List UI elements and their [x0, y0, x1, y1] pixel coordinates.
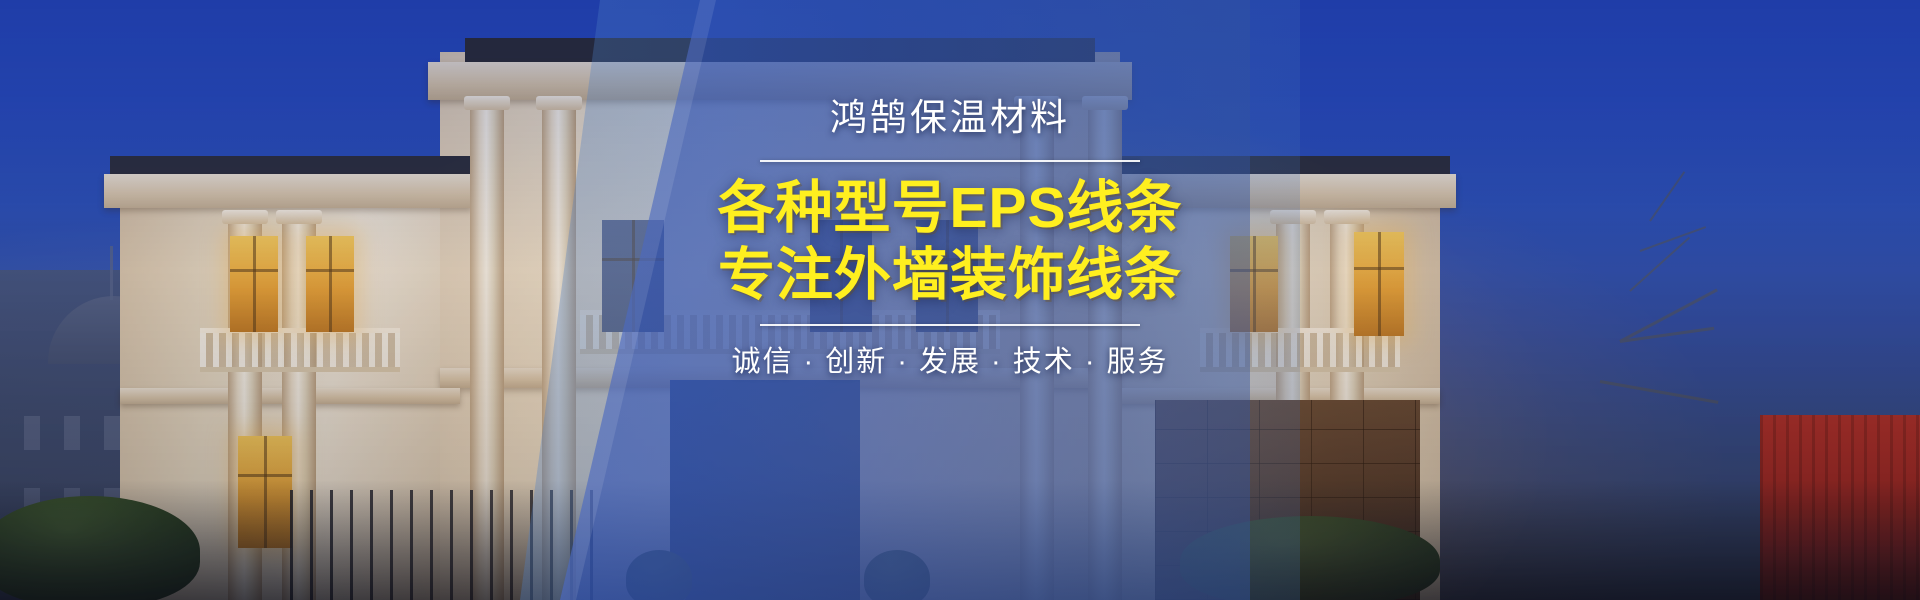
- brand-subtitle: 鸿鹄保温材料: [690, 96, 1210, 140]
- tagline: 诚信 · 创新 · 发展 · 技术 · 服务: [690, 344, 1210, 380]
- divider-top: [760, 160, 1140, 162]
- promo-banner: 鸿鹄保温材料 各种型号EPS线条 专注外墙装饰线条 诚信 · 创新 · 发展 ·…: [0, 0, 1920, 600]
- divider-bottom: [760, 324, 1140, 326]
- headline-line-2: 专注外墙装饰线条: [690, 245, 1210, 306]
- headline-line-1: 各种型号EPS线条: [690, 178, 1210, 239]
- banner-copy: 鸿鹄保温材料 各种型号EPS线条 专注外墙装饰线条 诚信 · 创新 · 发展 ·…: [690, 96, 1210, 381]
